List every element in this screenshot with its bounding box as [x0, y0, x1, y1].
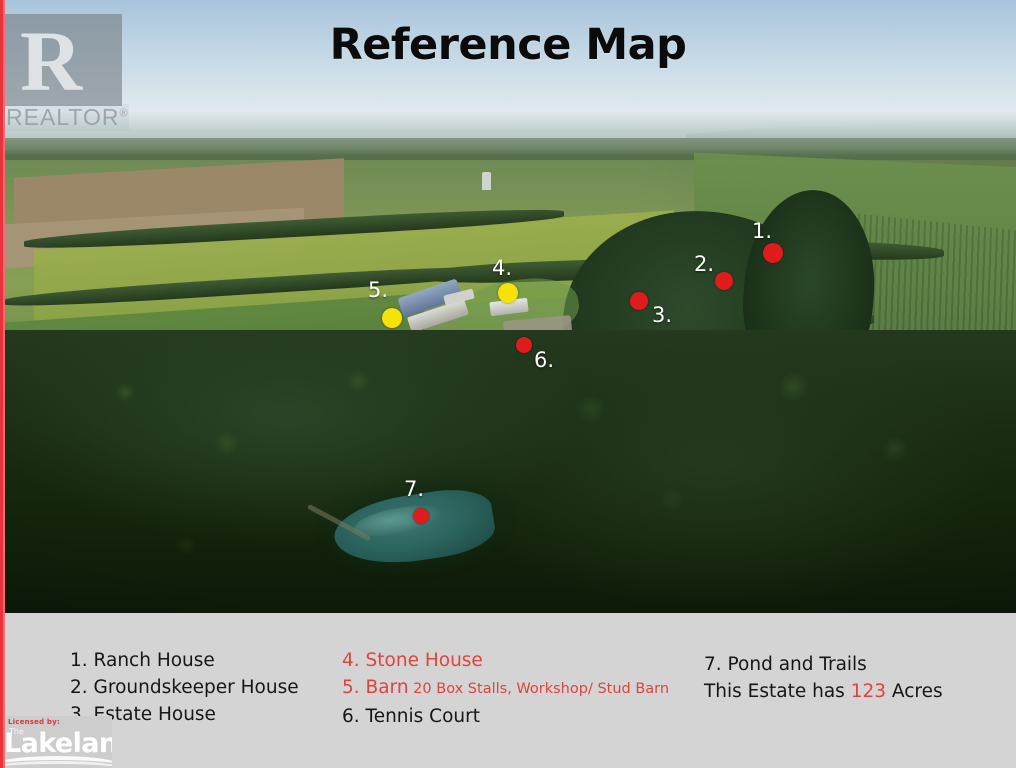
legend-item: 5. Barn 20 Box Stalls, Workshop/ Stud Ba… — [342, 674, 669, 703]
page-title: Reference Map — [0, 20, 1016, 70]
map-marker-3[interactable] — [630, 292, 648, 310]
legend-item: 6. Tennis Court — [342, 703, 669, 730]
legend-item-label: 2. Groundskeeper House — [70, 677, 299, 698]
legend-item-label: 7. Pond and Trails — [704, 654, 867, 675]
map-marker-4[interactable] — [498, 283, 518, 303]
legend-item: 7. Pond and Trails — [704, 651, 943, 678]
legend-item: 4. Stone House — [342, 647, 669, 674]
logo-name-label: Lakelands — [4, 728, 112, 759]
map-marker-label-5: 5. — [368, 278, 388, 302]
map-marker-label-2: 2. — [694, 252, 714, 276]
map-marker-7[interactable] — [413, 508, 429, 524]
legend-item: This Estate has 123 Acres — [704, 678, 943, 705]
realtor-wordmark-text: REALTOR — [6, 104, 120, 130]
legend-item: 2. Groundskeeper House — [70, 674, 299, 701]
map-marker-label-7: 7. — [404, 477, 424, 501]
realtor-wordmark: REALTOR® — [6, 104, 129, 131]
left-red-border-highlight — [3, 0, 5, 768]
reference-map-page: R REALTOR® Reference Map 1.2.3.4.5.6.7. … — [0, 0, 1016, 768]
aerial-photo — [4, 0, 1016, 613]
map-marker-label-6: 6. — [534, 348, 554, 372]
legend-column-2: 4. Stone House5. Barn 20 Box Stalls, Wor… — [342, 647, 669, 730]
legend-item-label: 6. Tennis Court — [342, 706, 480, 727]
legend-text-prefix: This Estate has — [704, 681, 851, 702]
lakelands-logo: Licensed by: The Lakelands — [0, 716, 112, 768]
map-marker-label-4: 4. — [492, 256, 512, 280]
logo-swoosh-secondary-icon — [0, 761, 112, 768]
map-marker-2[interactable] — [715, 272, 733, 290]
legend-item-note: 20 Box Stalls, Workshop/ Stud Barn — [409, 681, 670, 697]
map-marker-6[interactable] — [516, 337, 532, 353]
map-marker-1[interactable] — [763, 243, 783, 263]
map-marker-5[interactable] — [382, 308, 402, 328]
map-marker-label-1: 1. — [752, 219, 772, 243]
registered-trademark-icon: ® — [120, 107, 129, 119]
legend-item-label: 4. Stone House — [342, 650, 483, 671]
legend-item-label: 5. Barn — [342, 677, 409, 698]
map-marker-label-3: 3. — [652, 303, 672, 327]
legend-text-suffix: Acres — [886, 681, 943, 702]
foreground-forest — [4, 330, 1016, 613]
legend-panel: 1. Ranch House2. Groundskeeper House3. E… — [4, 613, 1016, 768]
forest-canopy-texture — [4, 330, 1016, 613]
licensed-by-label: Licensed by: — [8, 718, 60, 726]
silo-building — [482, 172, 491, 190]
legend-column-3: 7. Pond and TrailsThis Estate has 123 Ac… — [704, 651, 943, 705]
acreage-value: 123 — [851, 681, 886, 702]
legend-item: 1. Ranch House — [70, 647, 299, 674]
legend-columns: 1. Ranch House2. Groundskeeper House3. E… — [4, 613, 1016, 768]
legend-item-label: 1. Ranch House — [70, 650, 215, 671]
